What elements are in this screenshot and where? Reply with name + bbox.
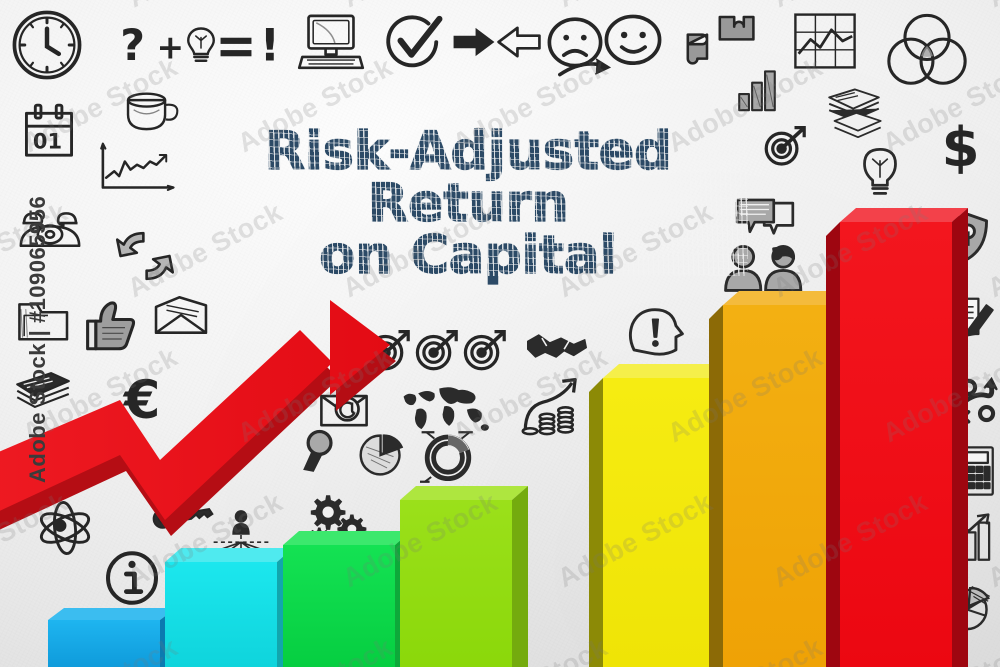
shield-icon	[946, 212, 990, 262]
dollar-sign-icon: $	[940, 118, 988, 178]
equals-icon	[219, 33, 253, 61]
target-arrow-icon	[762, 126, 806, 168]
exclamation-icon: !	[258, 22, 278, 68]
info-circle-icon	[104, 550, 160, 606]
question-mark-icon: ?	[118, 22, 152, 68]
left-arrow-icon	[497, 25, 541, 59]
calculator-icon	[952, 444, 996, 498]
svg-text:?: ?	[120, 21, 145, 71]
pie-chart-icon	[358, 432, 408, 478]
handshake-icon	[526, 330, 588, 370]
org-chart-icon	[202, 510, 280, 576]
thumbs-up-icon	[86, 300, 138, 352]
world-map-icon	[400, 382, 490, 434]
envelope-icon	[152, 294, 210, 336]
svg-text:€: €	[123, 370, 161, 431]
money-stack-icon	[832, 108, 884, 142]
svg-text:$: $	[942, 115, 980, 179]
coffee-cup-icon	[124, 92, 182, 134]
svg-text:+: +	[157, 27, 185, 66]
computer-icon	[296, 12, 366, 74]
exchange-arrows-icon	[114, 228, 176, 284]
magnifier-icon	[300, 428, 344, 474]
gears-icon	[308, 492, 370, 550]
curved-arrow-icon	[556, 57, 618, 81]
checkmark-circle-icon	[382, 14, 444, 72]
line-chart-grid-icon	[793, 12, 857, 70]
alert-head-icon	[626, 306, 684, 360]
stock-photo-canvas: ? + !	[0, 0, 1000, 667]
title-line-2: on Capital	[188, 230, 748, 282]
doodle-icon-layer: ? + !	[0, 0, 1000, 667]
clock-icon	[10, 8, 84, 82]
document-pen-icon	[948, 294, 996, 342]
plus-icon: +	[155, 30, 185, 64]
lightbulb-icon	[186, 24, 216, 66]
title-line-1: Risk-Adjusted Return	[265, 121, 672, 234]
venn-diagram-icon	[884, 12, 970, 90]
atom-icon	[36, 500, 94, 556]
svg-text:!: !	[260, 21, 280, 72]
watermark-side-label: Adobe Stock | #109065956	[25, 143, 51, 483]
page-title: Risk-Adjusted Return on Capital	[188, 126, 748, 282]
euro-sign-icon: €	[122, 372, 170, 428]
email-at-icon	[318, 388, 370, 430]
strategy-icon	[944, 374, 998, 422]
lightbulb-idea-icon	[858, 146, 902, 200]
pie-chart-icon	[944, 580, 998, 634]
right-arrow-icon	[452, 25, 496, 59]
donut-chart-icon	[420, 430, 476, 484]
bar-chart-icon	[736, 68, 778, 112]
target-arrow-icon	[414, 330, 458, 372]
coins-growth-icon	[520, 378, 582, 436]
target-arrow-icon	[366, 330, 410, 372]
pie-slice-icon	[196, 434, 252, 484]
line-graph-icon	[98, 142, 176, 194]
puzzle-pieces-icon	[683, 12, 755, 70]
bar-chart-arrow-icon	[948, 514, 998, 562]
